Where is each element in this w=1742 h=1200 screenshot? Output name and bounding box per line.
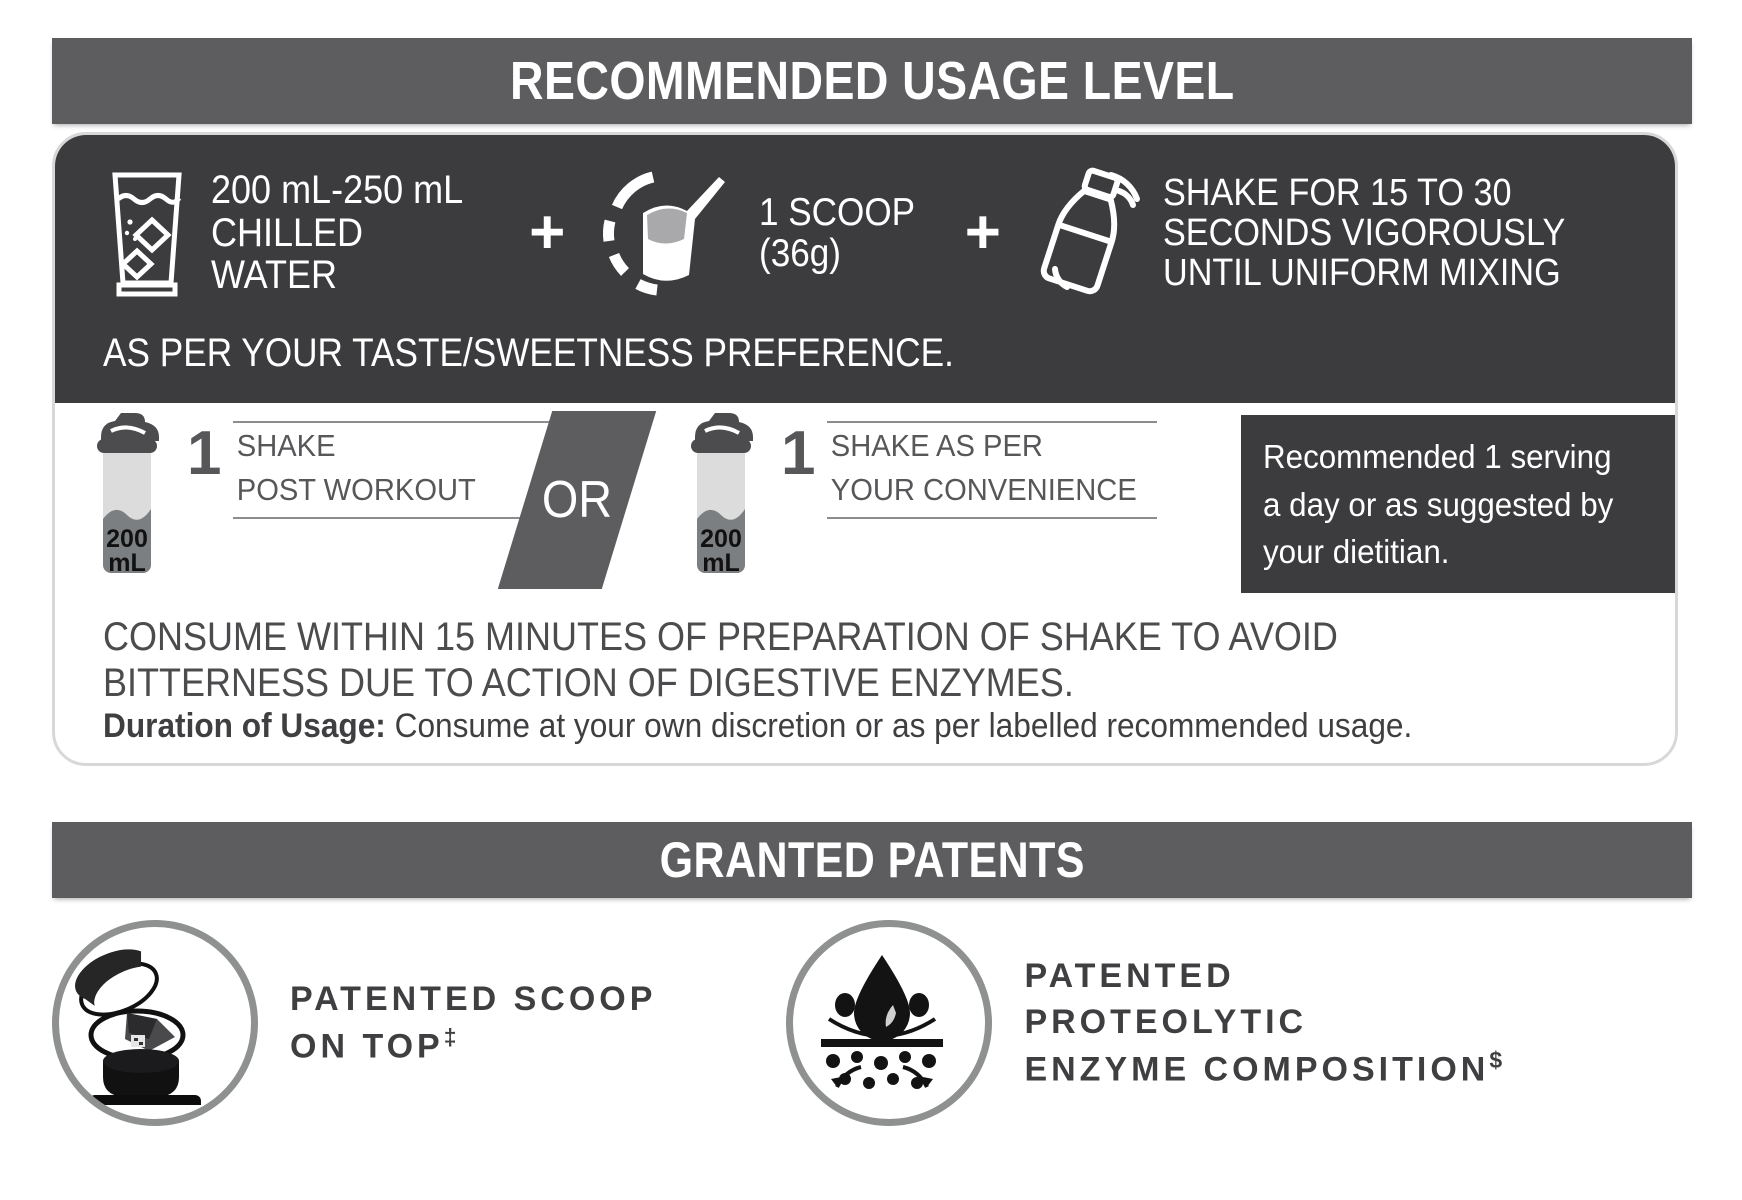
- usage-section-title: RECOMMENDED USAGE LEVEL: [510, 50, 1235, 112]
- patents-list: PATENTED SCOOP ON TOP‡: [52, 920, 1692, 1190]
- mix-step-water: 200 mL-250 mL CHILLED WATER: [97, 165, 491, 302]
- dietitian-note-line-3: your dietitian.: [1263, 528, 1678, 576]
- product-label-page: RECOMMENDED USAGE LEVEL: [0, 0, 1742, 1200]
- duration-of-usage: Duration of Usage: Consume at your own d…: [103, 707, 1554, 746]
- water-glass-icon: [97, 165, 197, 302]
- usage-card: 200 mL-250 mL CHILLED WATER +: [52, 132, 1678, 766]
- scoop-amount: 1 SCOOP: [759, 192, 915, 233]
- divider-bottom-2: [827, 517, 1157, 519]
- serving-option-2-label-2: YOUR CONVENIENCE: [827, 467, 1137, 511]
- taste-preference-note: AS PER YOUR TASTE/SWEETNESS PREFERENCE.: [103, 331, 954, 376]
- scoop-icon: [595, 161, 743, 306]
- patent-scoop-line-2: ON TOP: [290, 1028, 444, 1066]
- serving-option-2-count: 1: [781, 423, 815, 485]
- scoop-on-lid-icon: [52, 920, 258, 1126]
- shake-line-2: SECONDS VIGOROUSLY: [1163, 213, 1565, 253]
- mix-step-shake-text: SHAKE FOR 15 TO 30 SECONDS VIGOROUSLY UN…: [1163, 173, 1565, 294]
- mix-step-water-text: 200 mL-250 mL CHILLED WATER: [211, 169, 463, 296]
- dietitian-note-line-2: a day or as suggested by: [1263, 481, 1678, 529]
- or-divider-label: OR: [542, 470, 612, 530]
- serving-options-row: 200 mL 1 SHAKE POST WORKOUT OR: [55, 403, 1675, 603]
- duration-of-usage-label: Duration of Usage:: [103, 707, 386, 745]
- patent-scoop-mark: ‡: [444, 1024, 457, 1050]
- serving-option-2-text: 1 SHAKE AS PER YOUR CONVENIENCE: [781, 403, 1157, 519]
- consume-warning-line-2: BITTERNESS DUE TO ACTION OF DIGESTIVE EN…: [103, 661, 1453, 707]
- patent-enzyme-line-2: PROTEOLYTIC: [1024, 999, 1502, 1045]
- enzyme-droplet-icon: [786, 920, 992, 1126]
- dietitian-note-line-1: Recommended 1 serving: [1263, 433, 1678, 481]
- consume-warning-line-1: CONSUME WITHIN 15 MINUTES OF PREPARATION…: [103, 615, 1453, 661]
- water-amount: 200 mL-250 mL: [211, 169, 463, 211]
- patent-enzyme-mark: $: [1489, 1047, 1502, 1073]
- patents-section-header: GRANTED PATENTS: [52, 822, 1692, 898]
- usage-section-header: RECOMMENDED USAGE LEVEL: [52, 38, 1692, 124]
- shaker-cup-icon: 200 mL: [675, 403, 767, 588]
- scoop-weight: (36g): [759, 233, 915, 274]
- water-label-2: WATER: [211, 254, 463, 296]
- patent-item-enzyme: PATENTED PROTEOLYTIC ENZYME COMPOSITION$: [786, 920, 1502, 1126]
- patent-enzyme-line-3: ENZYME COMPOSITION: [1024, 1051, 1489, 1089]
- patents-section-title: GRANTED PATENTS: [659, 831, 1084, 889]
- plus-icon-1: +: [525, 202, 569, 264]
- serving-option-1-count: 1: [187, 423, 221, 485]
- mix-step-shake: SHAKE FOR 15 TO 30 SECONDS VIGOROUSLY UN…: [1031, 161, 1610, 306]
- svg-text:mL: mL: [108, 549, 146, 577]
- water-label-1: CHILLED: [211, 212, 463, 254]
- duration-of-usage-text: Consume at your own discretion or as per…: [386, 707, 1412, 745]
- patent-enzyme-label: PATENTED PROTEOLYTIC ENZYME COMPOSITION$: [1024, 953, 1502, 1093]
- serving-option-convenience: 200 mL 1 SHAKE AS PER YOUR CONVENIENCE: [675, 403, 1157, 588]
- dietitian-note-box: Recommended 1 serving a day or as sugges…: [1241, 415, 1678, 593]
- patent-scoop-label: PATENTED SCOOP ON TOP‡: [290, 976, 656, 1070]
- shaker-cup-icon: 200 mL: [81, 403, 173, 588]
- patent-enzyme-line-1: PATENTED: [1024, 953, 1502, 999]
- patent-enzyme-line-3-wrap: ENZYME COMPOSITION$: [1024, 1045, 1502, 1093]
- mixing-steps-row: 200 mL-250 mL CHILLED WATER +: [55, 147, 1675, 319]
- consume-warning: CONSUME WITHIN 15 MINUTES OF PREPARATION…: [103, 615, 1453, 706]
- mix-step-scoop-text: 1 SCOOP (36g): [759, 192, 915, 275]
- shaker-bottle-icon: [1031, 161, 1151, 306]
- svg-text:mL: mL: [702, 549, 740, 577]
- patent-scoop-line-2-wrap: ON TOP‡: [290, 1022, 656, 1070]
- shake-line-1: SHAKE FOR 15 TO 30: [1163, 173, 1565, 213]
- plus-icon-2: +: [961, 202, 1005, 264]
- patent-item-scoop: PATENTED SCOOP ON TOP‡: [52, 920, 656, 1126]
- serving-option-1-label-1: SHAKE: [233, 423, 581, 467]
- serving-option-2-label-1: SHAKE AS PER: [827, 423, 1137, 467]
- patent-scoop-line-1: PATENTED SCOOP: [290, 976, 656, 1022]
- shake-line-3: UNTIL UNIFORM MIXING: [1163, 253, 1565, 293]
- mix-step-scoop: 1 SCOOP (36g): [595, 161, 932, 306]
